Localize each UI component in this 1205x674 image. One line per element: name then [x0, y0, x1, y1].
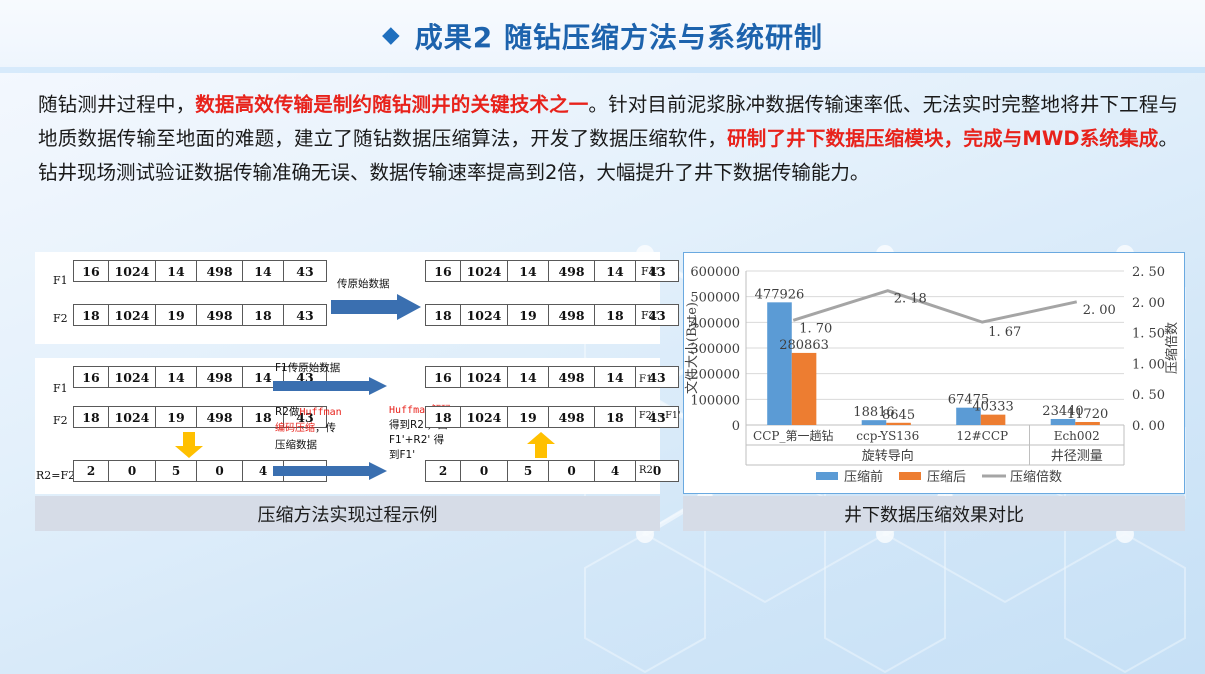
- data-cell: 18: [73, 406, 109, 428]
- row-label-f2: F2: [53, 312, 68, 325]
- svg-text:11720: 11720: [1067, 407, 1108, 422]
- svg-text:旋转导向: 旋转导向: [862, 448, 914, 464]
- data-cell: 498: [196, 366, 243, 388]
- data-cell: 18: [425, 304, 461, 326]
- annot-huffman: Huffman: [299, 407, 341, 418]
- down-arrow-icon: [175, 432, 203, 458]
- data-cell: 1024: [460, 406, 508, 428]
- data-cell: 16: [73, 366, 109, 388]
- annot-decode-line4: 到F1': [389, 449, 415, 462]
- data-cell: 1024: [108, 366, 156, 388]
- svg-text:40333: 40333: [972, 400, 1013, 415]
- data-cell: 19: [507, 406, 549, 428]
- data-cell: 498: [548, 366, 595, 388]
- data-cell: 43: [283, 304, 327, 326]
- annot-text: ，传: [315, 422, 336, 434]
- data-row-f2: 18 1024 19 498 18 43: [73, 304, 327, 326]
- data-cell: 16: [425, 366, 461, 388]
- data-cell: 498: [548, 260, 595, 282]
- row-label-f1: F1: [53, 382, 68, 395]
- para-seg-1: 随钻测井过程中，: [38, 93, 195, 116]
- data-cell: 0: [196, 460, 243, 482]
- svg-text:ccp-YS136: ccp-YS136: [856, 429, 919, 443]
- right-figure-caption: 井下数据压缩效果对比: [683, 496, 1185, 531]
- svg-text:2. 00: 2. 00: [1083, 303, 1116, 318]
- annot-r2-huffman-line1: R2做Huffman: [275, 406, 342, 419]
- svg-text:文件大小(Byte): 文件大小(Byte): [685, 302, 700, 394]
- data-cell: 14: [594, 366, 636, 388]
- svg-text:600000: 600000: [690, 265, 740, 280]
- data-cell: 0: [548, 460, 595, 482]
- data-cell: 18: [594, 304, 636, 326]
- svg-text:100000: 100000: [690, 393, 740, 408]
- data-cell: 18: [425, 406, 461, 428]
- para-highlight-2: 研制了井下数据压缩模块，完成与MWD系统集成: [727, 127, 1158, 150]
- para-highlight-1: 数据高效传输是制约随钻测井的关键技术之一: [195, 93, 588, 116]
- annot-f1-transmit-raw: F1传原始数据: [275, 362, 340, 375]
- data-cell: 14: [594, 260, 636, 282]
- data-cell: 1024: [108, 406, 156, 428]
- svg-text:12#CCP: 12#CCP: [956, 429, 1008, 443]
- slide-canvas: ◆ 成果2 随钻压缩方法与系统研制 随钻测井过程中，数据高效传输是制约随钻测井的…: [0, 0, 1205, 674]
- svg-text:280863: 280863: [779, 338, 829, 353]
- data-cell: 14: [507, 260, 549, 282]
- body-paragraph: 随钻测井过程中，数据高效传输是制约随钻测井的关键技术之一。针对目前泥浆脉冲数据传…: [38, 88, 1178, 190]
- svg-text:井径测量: 井径测量: [1051, 449, 1103, 464]
- data-cell: 18: [594, 406, 636, 428]
- data-cell: 18: [242, 304, 284, 326]
- annot-decode-line3: F1'+R2' 得: [389, 434, 444, 447]
- up-arrow-icon: [527, 432, 555, 458]
- data-cell: 14: [155, 260, 197, 282]
- data-cell: 1024: [108, 304, 156, 326]
- svg-text:CCP_第一趟钻: CCP_第一趟钻: [753, 428, 833, 443]
- data-cell: 2: [425, 460, 461, 482]
- data-cell: 16: [73, 260, 109, 282]
- diamond-icon: ◆: [382, 24, 401, 47]
- data-cell: 14: [507, 366, 549, 388]
- right-arrow-icon: [273, 377, 387, 395]
- svg-text:1. 50: 1. 50: [1132, 327, 1165, 342]
- data-cell: 1024: [460, 260, 508, 282]
- annot-encode: 编码压缩: [275, 423, 315, 434]
- svg-text:1. 70: 1. 70: [799, 321, 832, 336]
- header-divider: [0, 67, 1205, 73]
- annot-r2-huffman-line2: 编码压缩，传: [275, 422, 336, 435]
- svg-text:8645: 8645: [882, 408, 915, 423]
- data-cell: 19: [155, 304, 197, 326]
- data-row-f1: 16 1024 14 498 14 43: [73, 260, 327, 282]
- data-cell: 1024: [108, 260, 156, 282]
- data-cell: 43: [283, 260, 327, 282]
- svg-text:Ech002: Ech002: [1054, 429, 1100, 443]
- annot-text: R2做: [275, 406, 299, 418]
- right-arrow-icon: [331, 294, 421, 320]
- row-label-f2: F2: [53, 414, 68, 427]
- svg-text:压缩后: 压缩后: [927, 469, 966, 485]
- svg-text:477926: 477926: [755, 287, 805, 302]
- data-cell: 1024: [460, 304, 508, 326]
- compression-effect-chart: 01000002000003000004000005000006000000. …: [684, 253, 1184, 493]
- row-label-f1-prime: F1': [641, 265, 659, 278]
- data-cell: 14: [242, 260, 284, 282]
- row-label-f1: F1: [53, 274, 68, 287]
- data-cell: 0: [108, 460, 156, 482]
- row-label-r2-prime: R2': [639, 465, 656, 476]
- left-figure-caption: 压缩方法实现过程示例: [35, 496, 660, 531]
- svg-text:0: 0: [732, 419, 740, 434]
- data-cell: 14: [155, 366, 197, 388]
- data-cell: 5: [507, 460, 549, 482]
- page-title-text: 成果2 随钻压缩方法与系统研制: [415, 16, 823, 56]
- data-cell: 498: [548, 406, 595, 428]
- page-title: ◆ 成果2 随钻压缩方法与系统研制: [0, 14, 1205, 58]
- svg-text:1. 67: 1. 67: [988, 325, 1021, 340]
- data-cell: 498: [548, 304, 595, 326]
- data-cell: 498: [196, 260, 243, 282]
- data-cell: 1024: [460, 366, 508, 388]
- svg-text:2. 18: 2. 18: [894, 292, 927, 307]
- data-cell: 2: [73, 460, 109, 482]
- svg-text:2. 50: 2. 50: [1132, 265, 1165, 280]
- data-cell: 4: [594, 460, 636, 482]
- data-cell: 498: [196, 406, 243, 428]
- svg-text:压缩前: 压缩前: [844, 469, 883, 485]
- arrow-label-transmit-raw: 传原始数据: [337, 278, 390, 291]
- row-label-f2-prime: F2': [641, 309, 659, 322]
- svg-text:0. 00: 0. 00: [1132, 419, 1165, 434]
- data-cell: 0: [460, 460, 508, 482]
- svg-text:压缩倍数: 压缩倍数: [1164, 322, 1180, 374]
- data-cell: 5: [155, 460, 197, 482]
- annot-r2-huffman-line3: 压缩数据: [275, 439, 317, 452]
- svg-text:1. 00: 1. 00: [1132, 357, 1165, 372]
- data-cell: 16: [425, 260, 461, 282]
- svg-text:压缩倍数: 压缩倍数: [1010, 469, 1062, 485]
- svg-text:2. 00: 2. 00: [1132, 296, 1165, 311]
- right-arrow-icon: [273, 462, 387, 480]
- data-cell: 18: [73, 304, 109, 326]
- row-label-f1-prime: F1': [639, 374, 655, 385]
- data-cell: 498: [196, 304, 243, 326]
- compression-diagram-top: F1 16 1024 14 498 14 43 F2 18 1024 19 49…: [35, 252, 660, 344]
- compression-diagram-bottom: F1 16 1024 14 498 14 43 F2 18 1024 19 49…: [35, 358, 660, 494]
- data-cell: 19: [507, 304, 549, 326]
- svg-text:0. 50: 0. 50: [1132, 388, 1165, 403]
- compression-effect-chart-panel: 01000002000003000004000005000006000000. …: [683, 252, 1185, 494]
- data-cell: 19: [155, 406, 197, 428]
